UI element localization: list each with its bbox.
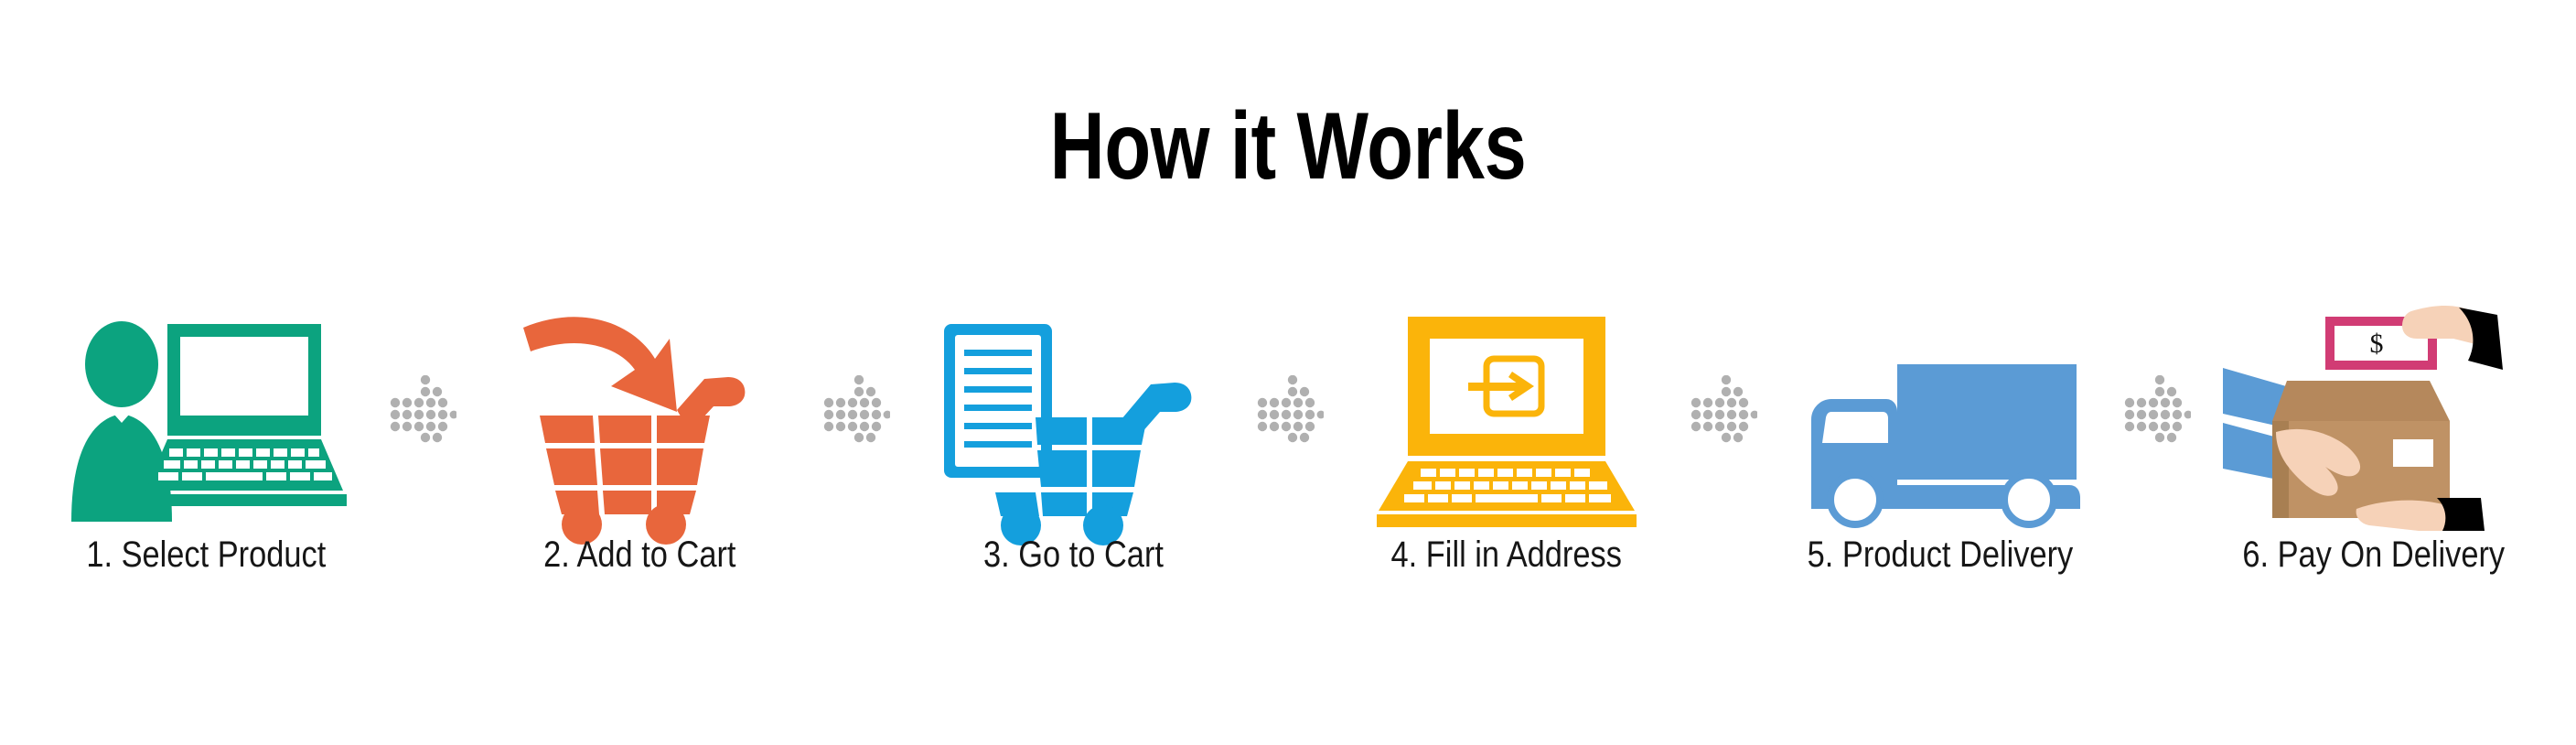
separator-3 [1256, 302, 1324, 604]
dotted-arrow-right-icon [822, 375, 890, 443]
document-with-cart-icon [922, 302, 1224, 531]
step-5-label: 5. Product Delivery [1808, 536, 2074, 573]
dotted-arrow-right-icon [1256, 375, 1324, 443]
infographic-canvas: How it Works [0, 0, 2576, 745]
dotted-arrow-right-icon [1690, 375, 1757, 443]
delivery-truck-icon [1789, 302, 2091, 531]
step-6-label: 6. Pay On Delivery [2243, 536, 2506, 573]
hands-exchange-box-and-money-icon: $ [2223, 302, 2525, 531]
step-5-product-delivery[interactable]: 5. Product Delivery [1789, 302, 2091, 604]
page-title: How it Works [258, 99, 2319, 194]
laptop-with-login-arrow-icon [1356, 302, 1658, 531]
step-3-go-to-cart[interactable]: 3. Go to Cart [922, 302, 1224, 604]
person-with-laptop-icon [55, 302, 357, 531]
step-4-label: 4. Fill in Address [1391, 536, 1622, 573]
separator-1 [389, 302, 456, 604]
step-1-label: 1. Select Product [86, 536, 326, 573]
separator-2 [822, 302, 890, 604]
step-2-label: 2. Add to Cart [543, 536, 735, 573]
separator-5 [2123, 302, 2191, 604]
step-3-label: 3. Go to Cart [983, 536, 1164, 573]
step-1-select-product[interactable]: 1. Select Product [55, 302, 357, 604]
separator-4 [1690, 302, 1757, 604]
step-6-pay-on-delivery[interactable]: $ [2223, 302, 2525, 604]
svg-text:$: $ [2370, 329, 2384, 359]
steps-strip: 1. Select Product [55, 302, 2525, 604]
step-4-fill-in-address[interactable]: 4. Fill in Address [1356, 302, 1658, 604]
shopping-cart-with-arrow-icon [488, 302, 790, 531]
dotted-arrow-right-icon [389, 375, 456, 443]
step-2-add-to-cart[interactable]: 2. Add to Cart [488, 302, 790, 604]
dotted-arrow-right-icon [2123, 375, 2191, 443]
